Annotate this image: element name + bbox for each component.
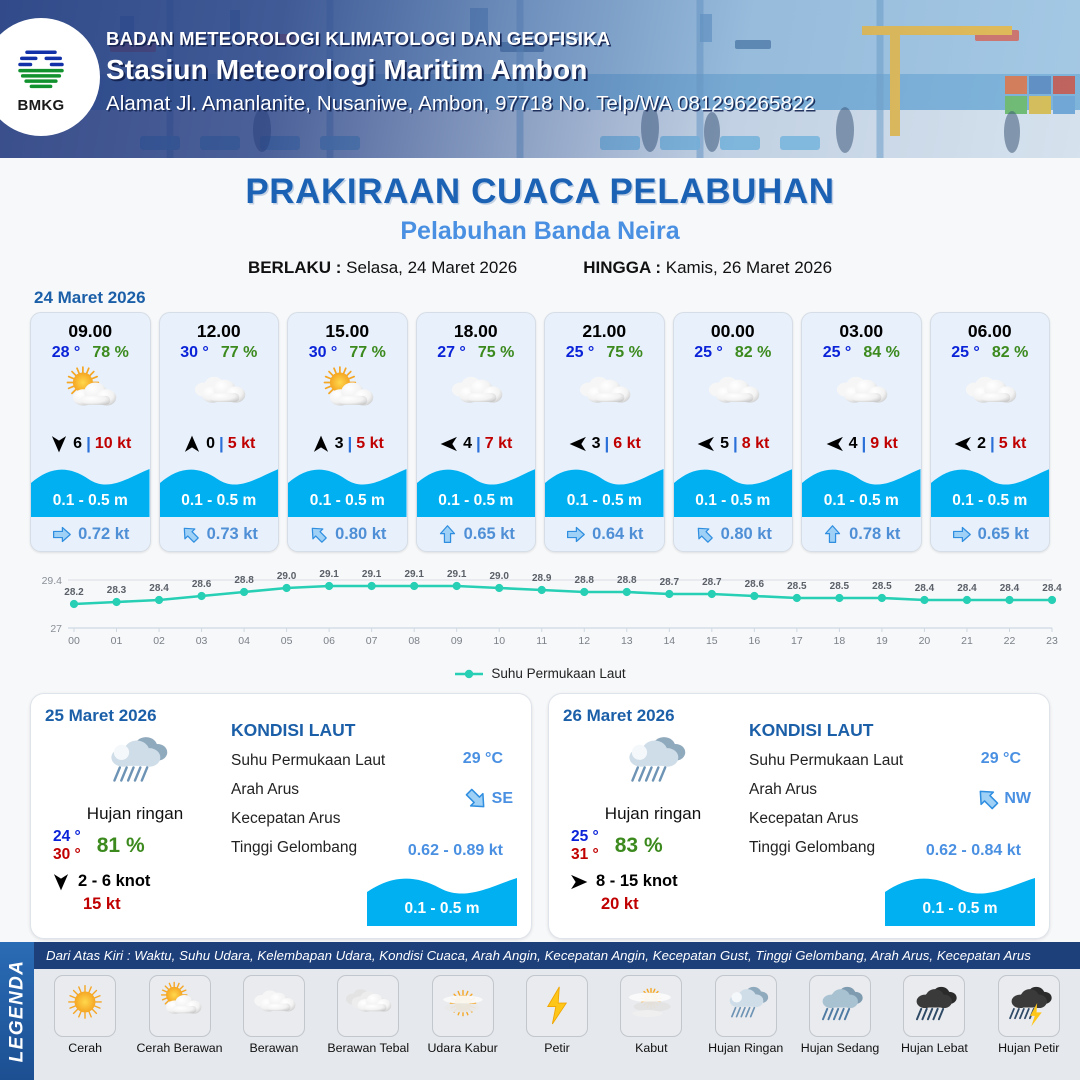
card-temp-humidity: 27 ° 75 % bbox=[417, 344, 536, 365]
card-wind: 3 | 6 kt bbox=[545, 427, 664, 461]
validity-from-label: BERLAKU : bbox=[248, 258, 342, 277]
svg-text:12: 12 bbox=[578, 635, 590, 647]
card-wave: 0.1 - 0.5 m bbox=[545, 461, 664, 517]
svg-text:05: 05 bbox=[281, 635, 293, 647]
card-wave-height: 0.1 - 0.5 m bbox=[674, 492, 793, 510]
forecast-card: 06.00 25 ° 82 % 2 | 5 kt bbox=[930, 312, 1051, 552]
card-wind-direction: 6 bbox=[73, 435, 82, 453]
legend-item: Hujan Petir bbox=[982, 975, 1076, 1078]
svg-text:03: 03 bbox=[196, 635, 208, 647]
card-wind-direction: 4 bbox=[463, 435, 472, 453]
card-weather-icon-wrap bbox=[160, 365, 279, 427]
card-current-speed: 0.80 kt bbox=[721, 525, 772, 544]
card-wind: 2 | 5 kt bbox=[931, 427, 1050, 461]
validity-row: BERLAKU : Selasa, 24 Maret 2026 HINGGA :… bbox=[0, 258, 1080, 278]
daily-weather-icon-wrap bbox=[563, 728, 743, 802]
svg-text:28.5: 28.5 bbox=[830, 581, 850, 592]
svg-text:23: 23 bbox=[1046, 635, 1058, 647]
card-wave-height: 0.1 - 0.5 m bbox=[31, 492, 150, 510]
validity-to-value: Kamis, 26 Maret 2026 bbox=[666, 258, 832, 277]
card-time: 06.00 bbox=[931, 313, 1050, 344]
daily-temps: 25 ° 31 ° 83 % bbox=[563, 828, 743, 864]
berawan-icon bbox=[245, 979, 303, 1033]
wind-direction-arrow-right-icon bbox=[569, 872, 589, 892]
current-direction-arrow-up-left-icon bbox=[308, 524, 329, 545]
legend-item-label: Hujan Sedang bbox=[801, 1041, 880, 1055]
daily-temps: 24 ° 30 ° 81 % bbox=[45, 828, 225, 864]
card-current-speed: 0.64 kt bbox=[592, 525, 643, 544]
svg-text:10: 10 bbox=[493, 635, 505, 647]
current-direction-arrow-up-left-icon bbox=[180, 524, 201, 545]
berawan-icon bbox=[176, 364, 262, 428]
legend-item: Petir bbox=[510, 975, 604, 1078]
svg-text:29.1: 29.1 bbox=[362, 569, 382, 580]
card-temp-humidity: 25 ° 75 % bbox=[545, 344, 664, 365]
sst-legend-label: Suhu Permukaan Laut bbox=[491, 666, 625, 681]
sea-current-speed-value: 0.62 - 0.84 kt bbox=[926, 842, 1021, 860]
legend-item: Berawan Tebal bbox=[321, 975, 415, 1078]
daily-weather-icon-wrap bbox=[45, 728, 225, 802]
daily-humidity: 83 % bbox=[615, 834, 663, 858]
svg-text:28.4: 28.4 bbox=[915, 583, 935, 594]
header-text-block: BADAN METEOROLOGI KLIMATOLOGI DAN GEOFIS… bbox=[106, 28, 815, 116]
hujan-petir-icon bbox=[1000, 979, 1058, 1033]
card-wind-direction: 5 bbox=[720, 435, 729, 453]
card-wave: 0.1 - 0.5 m bbox=[417, 461, 536, 517]
legend-item-label: Berawan bbox=[249, 1041, 298, 1055]
svg-text:29.4: 29.4 bbox=[42, 575, 63, 587]
daily-wind: 2 - 6 knot bbox=[45, 872, 225, 892]
svg-text:28.6: 28.6 bbox=[745, 579, 765, 590]
svg-text:16: 16 bbox=[749, 635, 761, 647]
hourly-forecast-cards: 09.00 28 ° 78 % 6 | 10 kt 0.1 - 0 bbox=[0, 312, 1080, 552]
berawan-icon bbox=[433, 364, 519, 428]
card-wave-height: 0.1 - 0.5 m bbox=[288, 492, 407, 510]
legend-item-label: Hujan Lebat bbox=[901, 1041, 968, 1055]
svg-text:28.4: 28.4 bbox=[1000, 583, 1020, 594]
card-current-speed: 0.72 kt bbox=[78, 525, 129, 544]
validity-to-label: HINGGA : bbox=[583, 258, 661, 277]
svg-text:29.1: 29.1 bbox=[319, 569, 339, 580]
hujan-ringan-icon bbox=[717, 979, 775, 1033]
sea-current-direction-label: NW bbox=[1004, 790, 1031, 808]
card-temperature: 25 ° bbox=[694, 344, 723, 362]
petir-icon bbox=[528, 979, 586, 1033]
card-wave-height: 0.1 - 0.5 m bbox=[417, 492, 536, 510]
card-current: 0.73 kt bbox=[160, 517, 279, 551]
card-wind-separator: | bbox=[605, 434, 610, 454]
forecast-card: 12.00 30 ° 77 % 0 | 5 kt bbox=[159, 312, 280, 552]
card-temperature: 30 ° bbox=[309, 344, 338, 362]
page-title: PRAKIRAAN CUACA PELABUHAN bbox=[0, 172, 1080, 212]
wind-direction-arrow-down-icon bbox=[51, 872, 71, 892]
daily-panel-left: 26 Maret 2026 Hujan ringan 25 ° 31 ° 83 … bbox=[563, 706, 743, 928]
card-weather-icon-wrap bbox=[417, 365, 536, 427]
legend-item: Udara Kabur bbox=[416, 975, 510, 1078]
cerah-icon bbox=[56, 979, 114, 1033]
card-weather-icon-wrap bbox=[674, 365, 793, 427]
forecast-card: 03.00 25 ° 84 % 4 | 9 kt bbox=[801, 312, 922, 552]
svg-text:28.9: 28.9 bbox=[532, 573, 552, 584]
daily-temp-col: 24 ° 30 ° bbox=[53, 828, 81, 864]
sea-sst-value: 29 °C bbox=[463, 750, 503, 768]
legend-icon-box bbox=[620, 975, 682, 1037]
legend-item-label: Petir bbox=[544, 1041, 569, 1055]
header-banner: BMKG BADAN METEOROLOGI KLIMATOLOGI DAN G… bbox=[0, 0, 1080, 158]
card-wave: 0.1 - 0.5 m bbox=[802, 461, 921, 517]
card-wind: 6 | 10 kt bbox=[31, 427, 150, 461]
svg-text:28.8: 28.8 bbox=[617, 575, 637, 586]
card-time: 09.00 bbox=[31, 313, 150, 344]
daily-panel-left: 25 Maret 2026 Hujan ringan 24 ° 30 ° 81 … bbox=[45, 706, 225, 928]
svg-text:28.8: 28.8 bbox=[575, 575, 595, 586]
card-wind-direction: 2 bbox=[977, 435, 986, 453]
card-weather-icon-wrap bbox=[802, 365, 921, 427]
svg-text:08: 08 bbox=[408, 635, 420, 647]
daily-wind-range: 8 - 15 knot bbox=[596, 872, 678, 891]
card-wave: 0.1 - 0.5 m bbox=[674, 461, 793, 517]
card-humidity: 82 % bbox=[992, 344, 1028, 362]
svg-text:04: 04 bbox=[238, 635, 250, 647]
card-wind-speed: 5 kt bbox=[999, 435, 1027, 453]
forecast-card: 18.00 27 ° 75 % 4 | 7 kt bbox=[416, 312, 537, 552]
page-subtitle: Pelabuhan Banda Neira bbox=[0, 217, 1080, 246]
cerah-berawan-icon bbox=[304, 364, 390, 428]
card-current: 0.80 kt bbox=[288, 517, 407, 551]
daily-temp-max: 30 ° bbox=[53, 846, 81, 864]
berawan-icon bbox=[818, 364, 904, 428]
svg-text:22: 22 bbox=[1004, 635, 1016, 647]
legend-item-label: Hujan Ringan bbox=[708, 1041, 783, 1055]
card-current-speed: 0.73 kt bbox=[207, 525, 258, 544]
cerah-berawan-icon bbox=[47, 364, 133, 428]
legend-item-label: Berawan Tebal bbox=[327, 1041, 409, 1055]
card-wind: 0 | 5 kt bbox=[160, 427, 279, 461]
card-wave-height: 0.1 - 0.5 m bbox=[160, 492, 279, 510]
sea-wave-height: 0.1 - 0.5 m bbox=[885, 900, 1035, 918]
legend-item: Hujan Ringan bbox=[699, 975, 793, 1078]
card-wave: 0.1 - 0.5 m bbox=[31, 461, 150, 517]
berawan-tebal-icon bbox=[339, 979, 397, 1033]
card-wind-direction: 0 bbox=[206, 435, 215, 453]
card-wind: 3 | 5 kt bbox=[288, 427, 407, 461]
svg-text:20: 20 bbox=[919, 635, 931, 647]
card-wind-speed: 6 kt bbox=[613, 435, 641, 453]
svg-text:28.5: 28.5 bbox=[872, 581, 892, 592]
card-wave: 0.1 - 0.5 m bbox=[160, 461, 279, 517]
svg-text:28.8: 28.8 bbox=[234, 575, 254, 586]
card-wind-speed: 8 kt bbox=[742, 435, 770, 453]
card-wind-separator: | bbox=[990, 434, 995, 454]
card-temperature: 28 ° bbox=[52, 344, 81, 362]
legend-icon-box bbox=[998, 975, 1060, 1037]
hujan-sedang-icon bbox=[811, 979, 869, 1033]
card-temperature: 25 ° bbox=[823, 344, 852, 362]
legend-icon-box bbox=[149, 975, 211, 1037]
card-time: 03.00 bbox=[802, 313, 921, 344]
card-time: 18.00 bbox=[417, 313, 536, 344]
svg-text:00: 00 bbox=[68, 635, 80, 647]
legend-item-label: Kabut bbox=[635, 1041, 667, 1055]
sea-sst-value: 29 °C bbox=[981, 750, 1021, 768]
legend-line-marker-icon bbox=[454, 668, 484, 680]
card-temperature: 25 ° bbox=[566, 344, 595, 362]
card-wind-direction: 3 bbox=[592, 435, 601, 453]
current-direction-arrow-up-left-icon bbox=[975, 786, 1001, 812]
card-current-speed: 0.78 kt bbox=[849, 525, 900, 544]
wind-direction-arrow-left-icon bbox=[825, 434, 845, 454]
card-humidity: 75 % bbox=[478, 344, 514, 362]
current-direction-arrow-up-icon bbox=[822, 524, 843, 545]
station-name: Stasiun Meteorologi Maritim Ambon bbox=[106, 54, 815, 86]
legend-item: Kabut bbox=[604, 975, 698, 1078]
card-wind-separator: | bbox=[86, 434, 91, 454]
svg-text:14: 14 bbox=[663, 635, 675, 647]
card-temp-humidity: 25 ° 82 % bbox=[931, 344, 1050, 365]
svg-text:07: 07 bbox=[366, 635, 378, 647]
card-temperature: 30 ° bbox=[180, 344, 209, 362]
card-current: 0.65 kt bbox=[417, 517, 536, 551]
svg-text:11: 11 bbox=[536, 635, 547, 647]
daily-condition: Hujan ringan bbox=[45, 804, 225, 824]
card-wind-separator: | bbox=[219, 434, 224, 454]
card-wind-speed: 5 kt bbox=[228, 435, 256, 453]
legend-icon-box bbox=[54, 975, 116, 1037]
validity-from: BERLAKU : Selasa, 24 Maret 2026 bbox=[248, 258, 517, 278]
berawan-icon bbox=[690, 364, 776, 428]
sst-chart-legend: Suhu Permukaan Laut bbox=[0, 666, 1080, 681]
card-wave-height: 0.1 - 0.5 m bbox=[802, 492, 921, 510]
svg-text:29.1: 29.1 bbox=[447, 569, 467, 580]
daily-date: 25 Maret 2026 bbox=[45, 706, 225, 726]
daily-panel: 26 Maret 2026 Hujan ringan 25 ° 31 ° 83 … bbox=[548, 693, 1050, 939]
daily-gust: 20 kt bbox=[601, 895, 743, 914]
card-weather-icon-wrap bbox=[31, 365, 150, 427]
daily-date: 26 Maret 2026 bbox=[563, 706, 743, 726]
svg-text:28.7: 28.7 bbox=[660, 577, 680, 588]
svg-text:29.0: 29.0 bbox=[277, 571, 297, 582]
legend-items: Cerah Cerah Berawan Berawan bbox=[34, 969, 1080, 1080]
sea-current-direction-label: SE bbox=[492, 790, 513, 808]
legend-item: Cerah Berawan bbox=[133, 975, 227, 1078]
svg-text:19: 19 bbox=[876, 635, 888, 647]
svg-text:28.4: 28.4 bbox=[957, 583, 977, 594]
wind-direction-arrow-up-icon bbox=[311, 434, 331, 454]
berawan-icon bbox=[947, 364, 1033, 428]
daily-temp-min: 24 ° bbox=[53, 828, 81, 846]
legend-tab: LEGENDA bbox=[0, 942, 34, 1080]
udara-kabur-icon bbox=[434, 979, 492, 1033]
card-wave: 0.1 - 0.5 m bbox=[931, 461, 1050, 517]
daily-panel-right: KONDISI LAUT Suhu Permukaan Laut Arah Ar… bbox=[225, 706, 517, 928]
legend-item-label: Hujan Petir bbox=[998, 1041, 1059, 1055]
daily-gust: 15 kt bbox=[83, 895, 225, 914]
card-current-speed: 0.65 kt bbox=[978, 525, 1029, 544]
card-wind-speed: 10 kt bbox=[95, 435, 131, 453]
wind-direction-arrow-left-icon bbox=[568, 434, 588, 454]
svg-text:15: 15 bbox=[706, 635, 718, 647]
svg-text:21: 21 bbox=[961, 635, 973, 647]
agency-name: BADAN METEOROLOGI KLIMATOLOGI DAN GEOFIS… bbox=[106, 28, 815, 50]
daily-temp-col: 25 ° 31 ° bbox=[571, 828, 599, 864]
card-humidity: 78 % bbox=[92, 344, 128, 362]
card-temperature: 25 ° bbox=[951, 344, 980, 362]
card-wind-speed: 5 kt bbox=[356, 435, 384, 453]
wind-direction-arrow-down-icon bbox=[49, 434, 69, 454]
current-direction-arrow-down-right-icon bbox=[463, 786, 489, 812]
wind-direction-arrow-left-icon bbox=[953, 434, 973, 454]
svg-text:17: 17 bbox=[791, 635, 803, 647]
card-humidity: 77 % bbox=[349, 344, 385, 362]
card-wind-separator: | bbox=[733, 434, 738, 454]
card-wind-separator: | bbox=[862, 434, 867, 454]
hujan-ringan-icon bbox=[87, 727, 183, 803]
legend-body: Dari Atas Kiri : Waktu, Suhu Udara, Kele… bbox=[34, 942, 1080, 1080]
svg-text:18: 18 bbox=[834, 635, 846, 647]
daily-temp-max: 31 ° bbox=[571, 846, 599, 864]
svg-text:27: 27 bbox=[50, 623, 62, 635]
legend-item-label: Cerah Berawan bbox=[136, 1041, 222, 1055]
daily-condition: Hujan ringan bbox=[563, 804, 743, 824]
legend-icon-box bbox=[337, 975, 399, 1037]
hujan-lebat-icon bbox=[905, 979, 963, 1033]
legend-icon-box bbox=[809, 975, 871, 1037]
forecast-card: 00.00 25 ° 82 % 5 | 8 kt bbox=[673, 312, 794, 552]
sea-wave-height: 0.1 - 0.5 m bbox=[367, 900, 517, 918]
legend-item: Hujan Lebat bbox=[887, 975, 981, 1078]
validity-from-value: Selasa, 24 Maret 2026 bbox=[346, 258, 517, 277]
sea-condition-title: KONDISI LAUT bbox=[749, 720, 1035, 741]
validity-to: HINGGA : Kamis, 26 Maret 2026 bbox=[583, 258, 832, 278]
legend-item: Hujan Sedang bbox=[793, 975, 887, 1078]
svg-text:28.4: 28.4 bbox=[1042, 583, 1062, 594]
hujan-ringan-icon bbox=[605, 727, 701, 803]
card-wind-separator: | bbox=[348, 434, 353, 454]
wind-direction-arrow-left-icon bbox=[439, 434, 459, 454]
legend-item: Cerah bbox=[38, 975, 132, 1078]
legend-note: Dari Atas Kiri : Waktu, Suhu Udara, Kele… bbox=[34, 942, 1080, 969]
card-wind-direction: 4 bbox=[849, 435, 858, 453]
card-wind: 4 | 7 kt bbox=[417, 427, 536, 461]
current-direction-arrow-up-left-icon bbox=[694, 524, 715, 545]
card-wind-direction: 3 bbox=[335, 435, 344, 453]
sst-legend-swatch bbox=[454, 668, 484, 680]
svg-text:01: 01 bbox=[111, 635, 123, 647]
card-current: 0.72 kt bbox=[31, 517, 150, 551]
card-humidity: 84 % bbox=[863, 344, 899, 362]
legend-icon-box bbox=[432, 975, 494, 1037]
sea-current-direction: SE bbox=[463, 786, 513, 812]
bmkg-logo-text: BMKG bbox=[17, 97, 64, 114]
card-time: 12.00 bbox=[160, 313, 279, 344]
card-wave: 0.1 - 0.5 m bbox=[288, 461, 407, 517]
sea-current-direction: NW bbox=[975, 786, 1031, 812]
sea-wave-graphic: 0.1 - 0.5 m bbox=[885, 870, 1035, 926]
card-temp-humidity: 28 ° 78 % bbox=[31, 344, 150, 365]
card-wind-speed: 7 kt bbox=[485, 435, 513, 453]
legend-item: Berawan bbox=[227, 975, 321, 1078]
card-current: 0.78 kt bbox=[802, 517, 921, 551]
card-wind-speed: 9 kt bbox=[870, 435, 898, 453]
svg-text:09: 09 bbox=[451, 635, 463, 647]
wind-direction-arrow-left-icon bbox=[696, 434, 716, 454]
card-humidity: 75 % bbox=[606, 344, 642, 362]
daily-wind: 8 - 15 knot bbox=[563, 872, 743, 892]
bmkg-logo-mark bbox=[13, 40, 69, 96]
kabut-icon bbox=[622, 979, 680, 1033]
card-wind: 4 | 9 kt bbox=[802, 427, 921, 461]
card-current-speed: 0.80 kt bbox=[335, 525, 386, 544]
forecast-date-label: 24 Maret 2026 bbox=[34, 288, 1080, 308]
card-current-speed: 0.65 kt bbox=[464, 525, 515, 544]
daily-temp-min: 25 ° bbox=[571, 828, 599, 846]
current-direction-arrow-right-icon bbox=[565, 524, 586, 545]
card-wave-height: 0.1 - 0.5 m bbox=[545, 492, 664, 510]
daily-humidity: 81 % bbox=[97, 834, 145, 858]
svg-text:06: 06 bbox=[323, 635, 335, 647]
current-direction-arrow-right-icon bbox=[951, 524, 972, 545]
daily-panel: 25 Maret 2026 Hujan ringan 24 ° 30 ° 81 … bbox=[30, 693, 532, 939]
legend-icon-box bbox=[715, 975, 777, 1037]
card-humidity: 82 % bbox=[735, 344, 771, 362]
sea-current-speed-value: 0.62 - 0.89 kt bbox=[408, 842, 503, 860]
card-wind-separator: | bbox=[476, 434, 481, 454]
card-humidity: 77 % bbox=[221, 344, 257, 362]
card-weather-icon-wrap bbox=[288, 365, 407, 427]
forecast-card: 21.00 25 ° 75 % 3 | 6 kt bbox=[544, 312, 665, 552]
svg-text:29.1: 29.1 bbox=[404, 569, 424, 580]
sst-chart: 29.4270001020304050607080910111213141516… bbox=[0, 564, 1080, 664]
legend-icon-box bbox=[526, 975, 588, 1037]
svg-text:13: 13 bbox=[621, 635, 633, 647]
wind-direction-arrow-up-icon bbox=[182, 434, 202, 454]
sea-row-current-speed-label: Kecepatan Arus bbox=[231, 810, 517, 828]
svg-text:28.6: 28.6 bbox=[192, 579, 212, 590]
current-direction-arrow-up-icon bbox=[437, 524, 458, 545]
card-temp-humidity: 30 ° 77 % bbox=[288, 344, 407, 365]
card-temp-humidity: 25 ° 84 % bbox=[802, 344, 921, 365]
legend-tab-label: LEGENDA bbox=[6, 960, 28, 1063]
daily-panel-right: KONDISI LAUT Suhu Permukaan Laut Arah Ar… bbox=[743, 706, 1035, 928]
card-temp-humidity: 25 ° 82 % bbox=[674, 344, 793, 365]
forecast-card: 15.00 30 ° 77 % 3 | 5 kt 0.1 - 0. bbox=[287, 312, 408, 552]
svg-text:28.5: 28.5 bbox=[787, 581, 807, 592]
card-weather-icon-wrap bbox=[545, 365, 664, 427]
svg-text:02: 02 bbox=[153, 635, 165, 647]
card-current: 0.80 kt bbox=[674, 517, 793, 551]
svg-text:29.0: 29.0 bbox=[489, 571, 509, 582]
sea-row-current-speed-label: Kecepatan Arus bbox=[749, 810, 1035, 828]
sea-condition-title: KONDISI LAUT bbox=[231, 720, 517, 741]
current-direction-arrow-right-icon bbox=[51, 524, 72, 545]
legend-item-label: Udara Kabur bbox=[427, 1041, 497, 1055]
card-time: 21.00 bbox=[545, 313, 664, 344]
svg-text:28.2: 28.2 bbox=[64, 587, 84, 598]
cerah-berawan-icon bbox=[151, 979, 209, 1033]
daily-forecast-panels: 25 Maret 2026 Hujan ringan 24 ° 30 ° 81 … bbox=[0, 681, 1080, 939]
card-weather-icon-wrap bbox=[931, 365, 1050, 427]
card-current: 0.64 kt bbox=[545, 517, 664, 551]
card-current: 0.65 kt bbox=[931, 517, 1050, 551]
legend-icon-box bbox=[903, 975, 965, 1037]
card-time: 00.00 bbox=[674, 313, 793, 344]
card-time: 15.00 bbox=[288, 313, 407, 344]
svg-text:28.7: 28.7 bbox=[702, 577, 722, 588]
card-temp-humidity: 30 ° 77 % bbox=[160, 344, 279, 365]
sst-chart-svg: 29.4270001020304050607080910111213141516… bbox=[18, 564, 1062, 664]
card-temperature: 27 ° bbox=[437, 344, 466, 362]
svg-text:28.3: 28.3 bbox=[107, 585, 127, 596]
